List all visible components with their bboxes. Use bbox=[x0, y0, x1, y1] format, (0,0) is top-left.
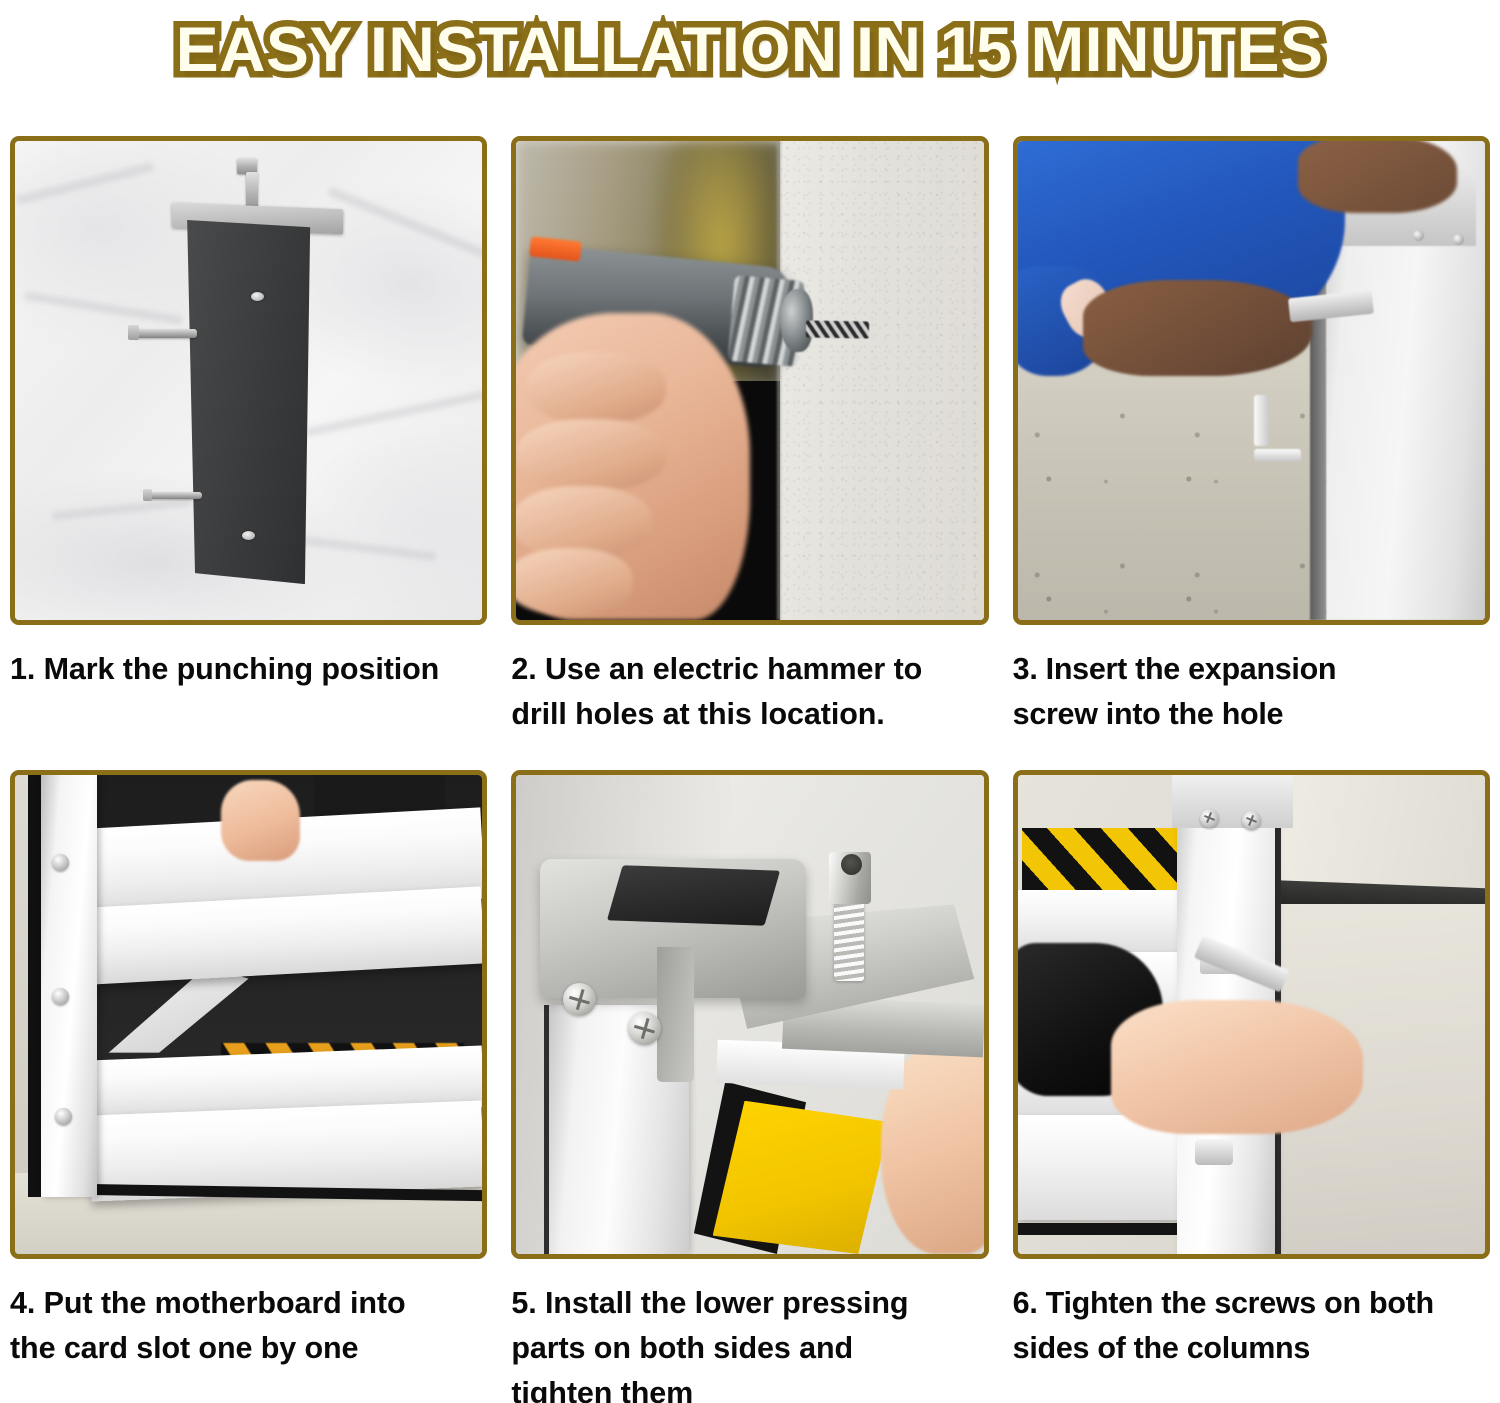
step-3-caption: 3. Insert the expansion screw into the h… bbox=[1013, 647, 1490, 737]
step-card-6: 6. Tighten the screws on both sides of t… bbox=[1013, 770, 1490, 1394]
phillips-screw-icon bbox=[1200, 809, 1219, 828]
step-card-5: 5. Install the lower pressing parts on b… bbox=[511, 770, 988, 1394]
step-2-photo-frame bbox=[511, 136, 988, 625]
step-1-caption-line-1: 1. Mark the punching position bbox=[10, 647, 477, 692]
step-5-caption-line-1: 5. Install the lower pressing bbox=[511, 1281, 978, 1326]
step-card-3: 3. Insert the expansion screw into the h… bbox=[1013, 136, 1490, 770]
step-4-photo-frame bbox=[10, 770, 487, 1259]
step-3-photo-frame bbox=[1013, 136, 1490, 625]
step-2-caption: 2. Use an electric hammer to drill holes… bbox=[511, 647, 988, 737]
step-5-caption-line-2: parts on both sides and bbox=[511, 1326, 978, 1371]
page-title: EASY INSTALLATION IN 15 MINUTES bbox=[176, 19, 1324, 82]
step-6-caption-line-1: 6. Tighten the screws on both bbox=[1013, 1281, 1480, 1326]
step-5-caption-line-3: tighten them bbox=[511, 1371, 978, 1403]
step-4-image bbox=[15, 775, 482, 1254]
step-6-caption: 6. Tighten the screws on both sides of t… bbox=[1013, 1281, 1490, 1371]
step-card-4: 4. Put the motherboard into the card slo… bbox=[10, 770, 487, 1394]
step-2-caption-line-1: 2. Use an electric hammer to bbox=[511, 647, 978, 692]
step-5-image bbox=[516, 775, 983, 1254]
step-1-photo-frame bbox=[10, 136, 487, 625]
allen-key-icon bbox=[1237, 395, 1302, 462]
step-4-caption-line-2: the card slot one by one bbox=[10, 1326, 477, 1371]
step-1-image bbox=[15, 141, 482, 620]
step-4-caption-line-1: 4. Put the motherboard into bbox=[10, 1281, 477, 1326]
step-6-photo-frame bbox=[1013, 770, 1490, 1259]
steps-grid: 1. Mark the punching position bbox=[10, 136, 1490, 1394]
step-6-image bbox=[1018, 775, 1485, 1254]
step-2-image bbox=[516, 141, 983, 620]
step-1-caption: 1. Mark the punching position bbox=[10, 647, 487, 692]
step-4-caption: 4. Put the motherboard into the card slo… bbox=[10, 1281, 487, 1371]
phillips-screw-icon bbox=[1242, 811, 1261, 830]
step-5-photo-frame bbox=[511, 770, 988, 1259]
step-5-caption: 5. Install the lower pressing parts on b… bbox=[511, 1281, 988, 1403]
step-card-2: 2. Use an electric hammer to drill holes… bbox=[511, 136, 988, 770]
step-3-caption-line-1: 3. Insert the expansion bbox=[1013, 647, 1480, 692]
step-3-caption-line-2: screw into the hole bbox=[1013, 692, 1480, 737]
step-6-caption-line-2: sides of the columns bbox=[1013, 1326, 1480, 1371]
header-banner: EASY INSTALLATION IN 15 MINUTES bbox=[0, 0, 1500, 100]
step-3-image bbox=[1018, 141, 1485, 620]
installation-guide-page: EASY INSTALLATION IN 15 MINUTES bbox=[0, 0, 1500, 1403]
step-card-1: 1. Mark the punching position bbox=[10, 136, 487, 770]
step-2-caption-line-2: drill holes at this location. bbox=[511, 692, 978, 737]
